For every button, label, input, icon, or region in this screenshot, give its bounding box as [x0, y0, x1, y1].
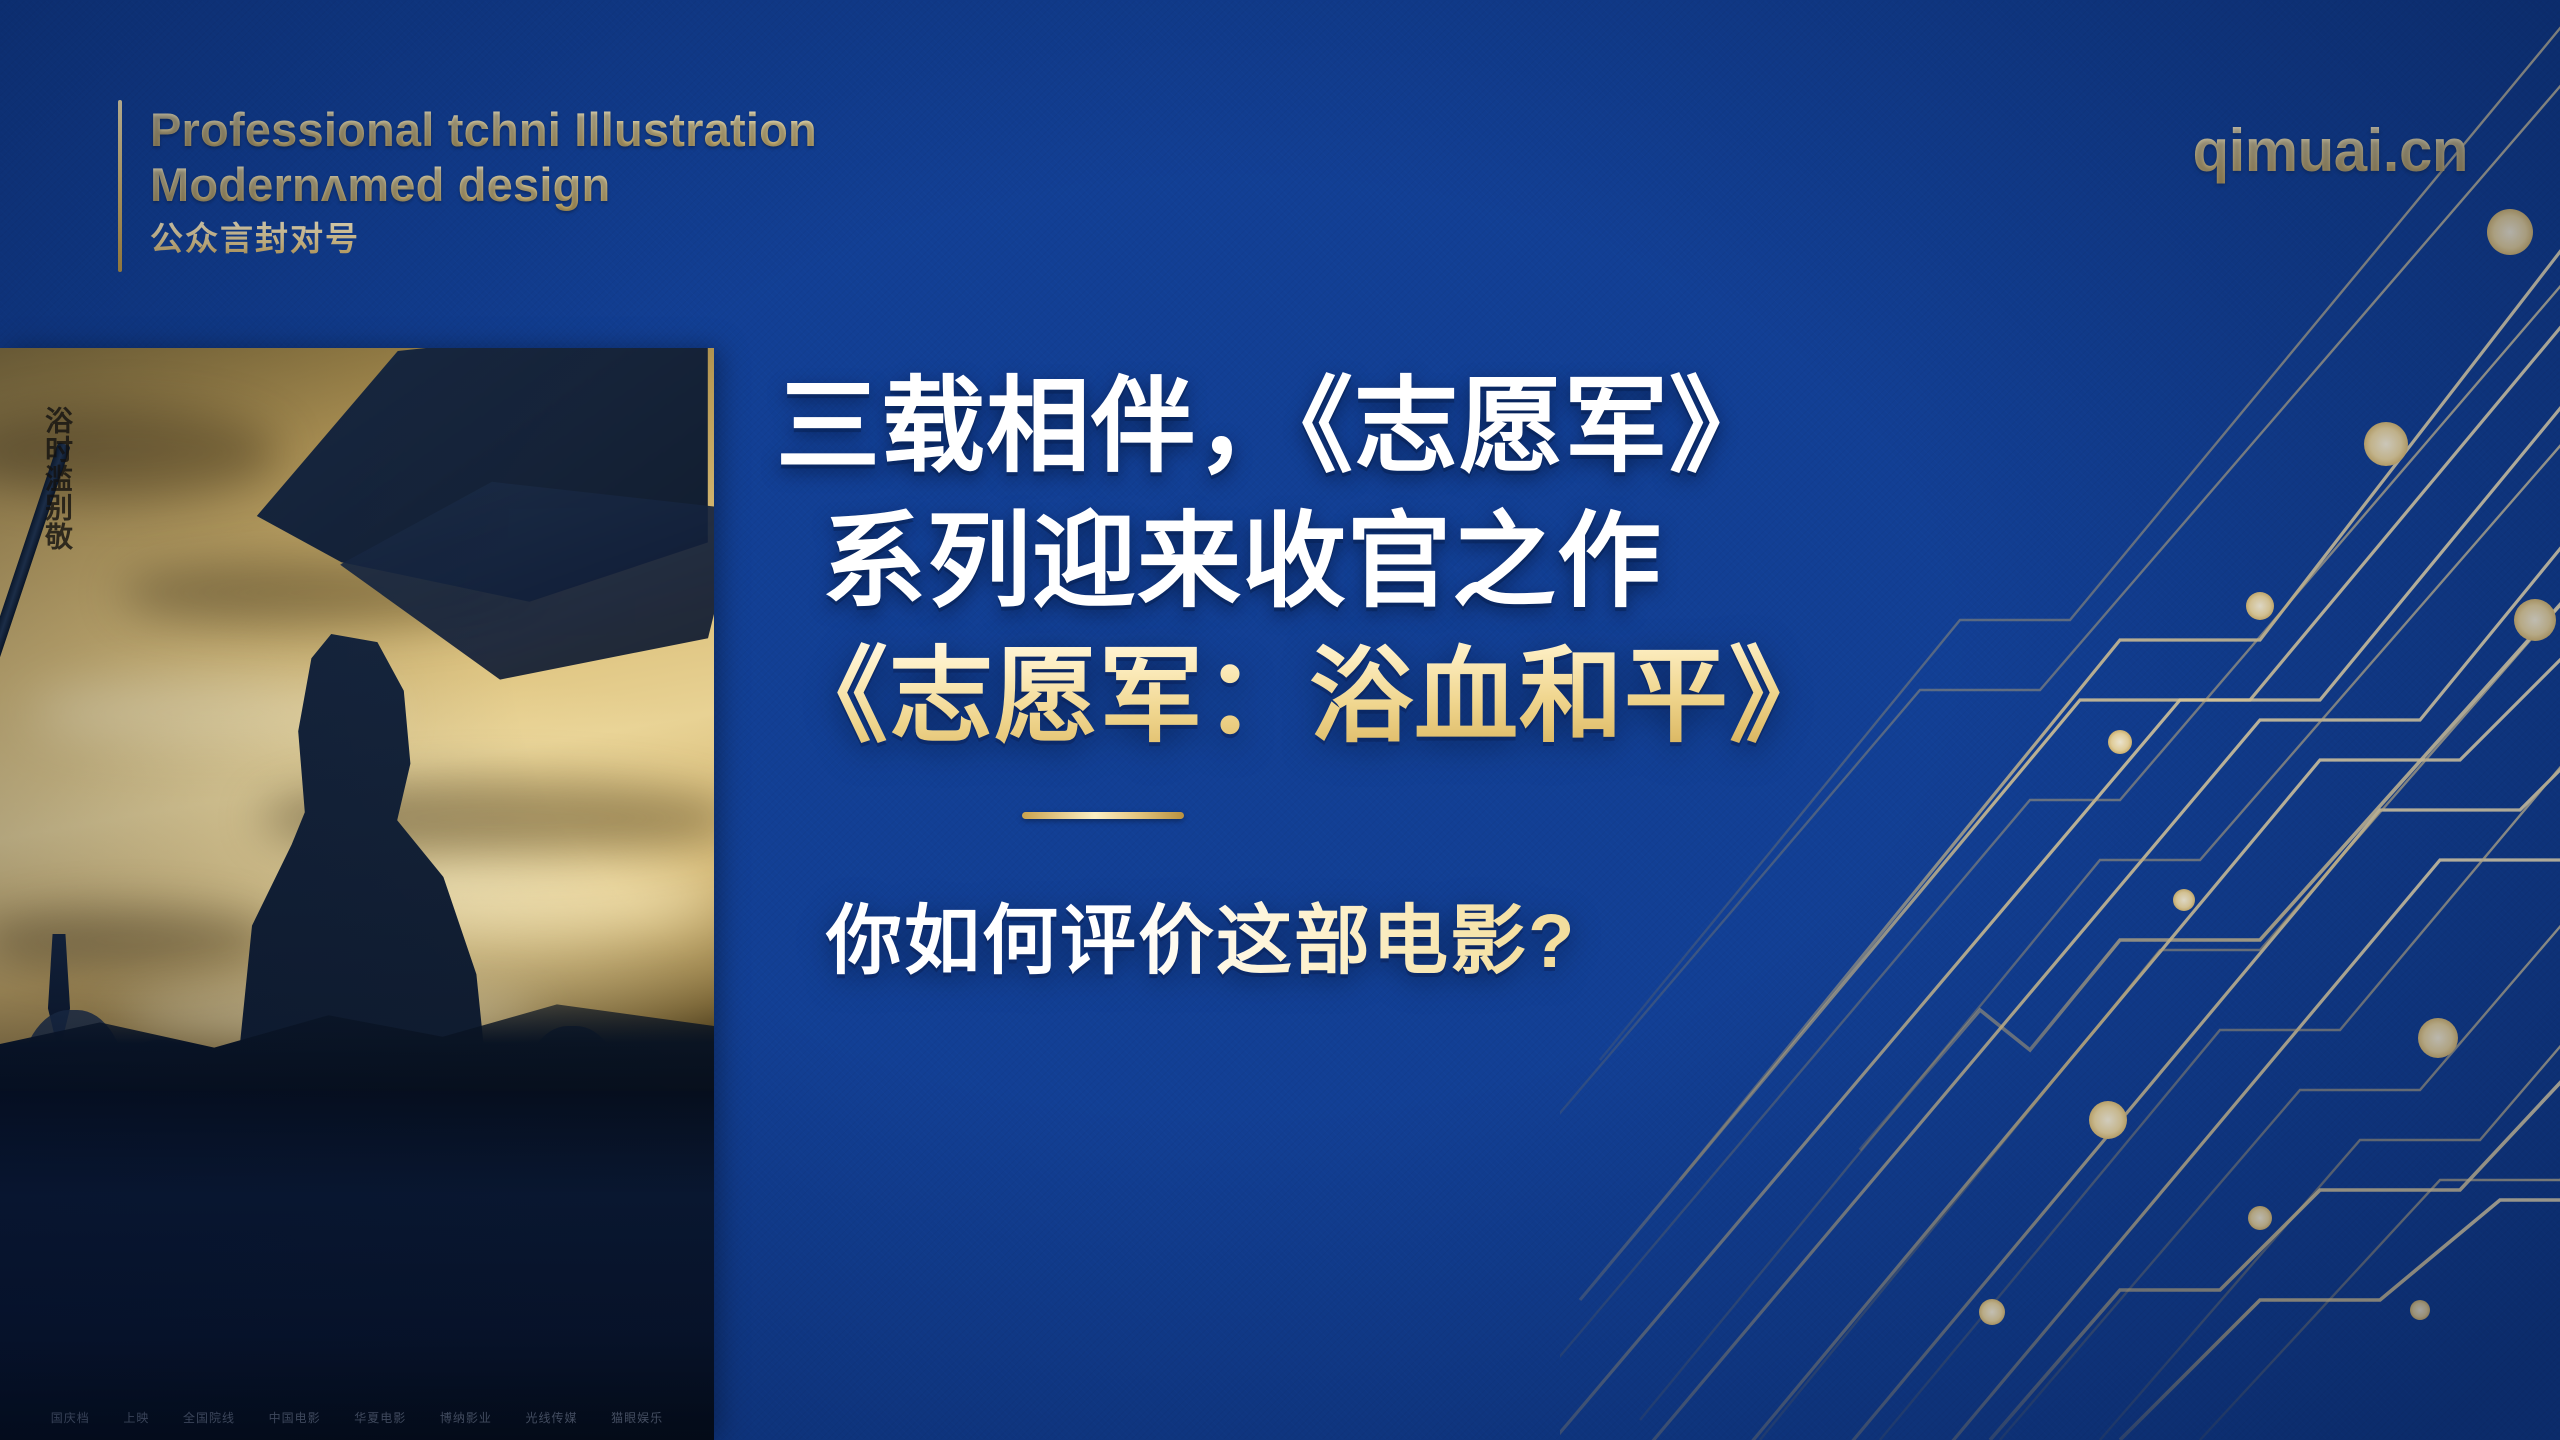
question-text: 你如何评价这部电影?	[770, 879, 1920, 989]
headline-line-1: 三载相伴，《志愿军》	[770, 360, 1920, 495]
brand-line-2: Modernʌmed design	[150, 157, 817, 212]
gold-divider	[1022, 812, 1184, 819]
poster-vertical-text: 浴时滥别敬	[24, 406, 76, 551]
poster-footer-item: 博纳影业	[440, 1409, 492, 1426]
movie-poster[interactable]: 浴时滥别敬 引志愿军浴血和平 陈凯歌 张子川战略 三志愿军·浴血和平 三部曲 以…	[0, 348, 714, 1440]
poster-footer-item: 华夏电影	[354, 1409, 406, 1426]
headline-line-3: 《志愿军：浴血和平》	[770, 630, 1920, 765]
poster-footer: 国庆档 上映 全国院线 中国电影 华夏电影 博纳影业 光线传媒 猫眼娱乐	[0, 1409, 714, 1426]
vertical-gold-rule	[118, 100, 122, 272]
poster-lower-panel	[0, 1091, 714, 1440]
poster-footer-item: 猫眼娱乐	[611, 1409, 663, 1426]
poster-canvas: Professional tchni Illustration Modernʌm…	[0, 0, 2560, 1440]
brand-line-1: Professional tchni Illustration	[150, 102, 817, 157]
headline-line-2: 系列迎来收官之作	[770, 495, 1920, 630]
poster-footer-item: 国庆档	[51, 1409, 90, 1426]
site-logo[interactable]: qimuai.cn	[2192, 116, 2468, 185]
poster-footer-item: 全国院线	[183, 1409, 235, 1426]
brand-header: Professional tchni Illustration Modernʌm…	[118, 100, 878, 276]
poster-footer-item: 光线传媒	[526, 1409, 578, 1426]
poster-footer-item: 中国电影	[269, 1409, 321, 1426]
main-copy-block: 三载相伴，《志愿军》 系列迎来收官之作 《志愿军：浴血和平》 你如何评价这部电影…	[770, 360, 1920, 989]
brand-text-block: Professional tchni Illustration Modernʌm…	[150, 100, 817, 259]
poster-footer-item: 上映	[123, 1409, 149, 1426]
brand-line-3: 公众言封对号	[150, 219, 817, 259]
